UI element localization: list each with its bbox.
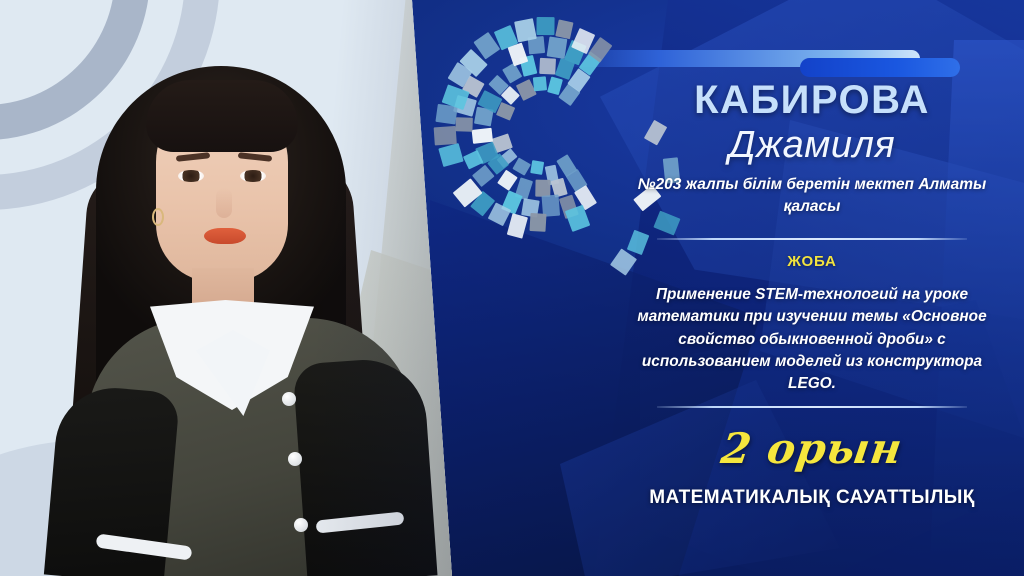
person-school: №203 жалпы білім беретін мектеп Алматы қ…: [630, 174, 994, 219]
award-slide: КАБИРОВА Джамиля №203 жалпы білім береті…: [0, 0, 1024, 576]
info-panel: КАБИРОВА Джамиля №203 жалпы білім береті…: [600, 0, 1024, 576]
award-place: 2 орын: [597, 424, 1024, 473]
award-category: МАТЕМАТИКАЛЫҚ САУАТТЫЛЫҚ: [600, 487, 1024, 509]
project-description: Применение STEM-технологий на уроке мате…: [618, 284, 1006, 396]
person-surname: КАБИРОВА: [600, 78, 1024, 123]
person-firstname: Джамиля: [600, 124, 1024, 167]
divider-bottom: [657, 406, 967, 408]
project-label: ЖОБА: [600, 253, 1024, 270]
divider-top: [657, 238, 967, 240]
photo-edge-shading: [0, 0, 452, 576]
portrait-photo: [0, 0, 452, 576]
